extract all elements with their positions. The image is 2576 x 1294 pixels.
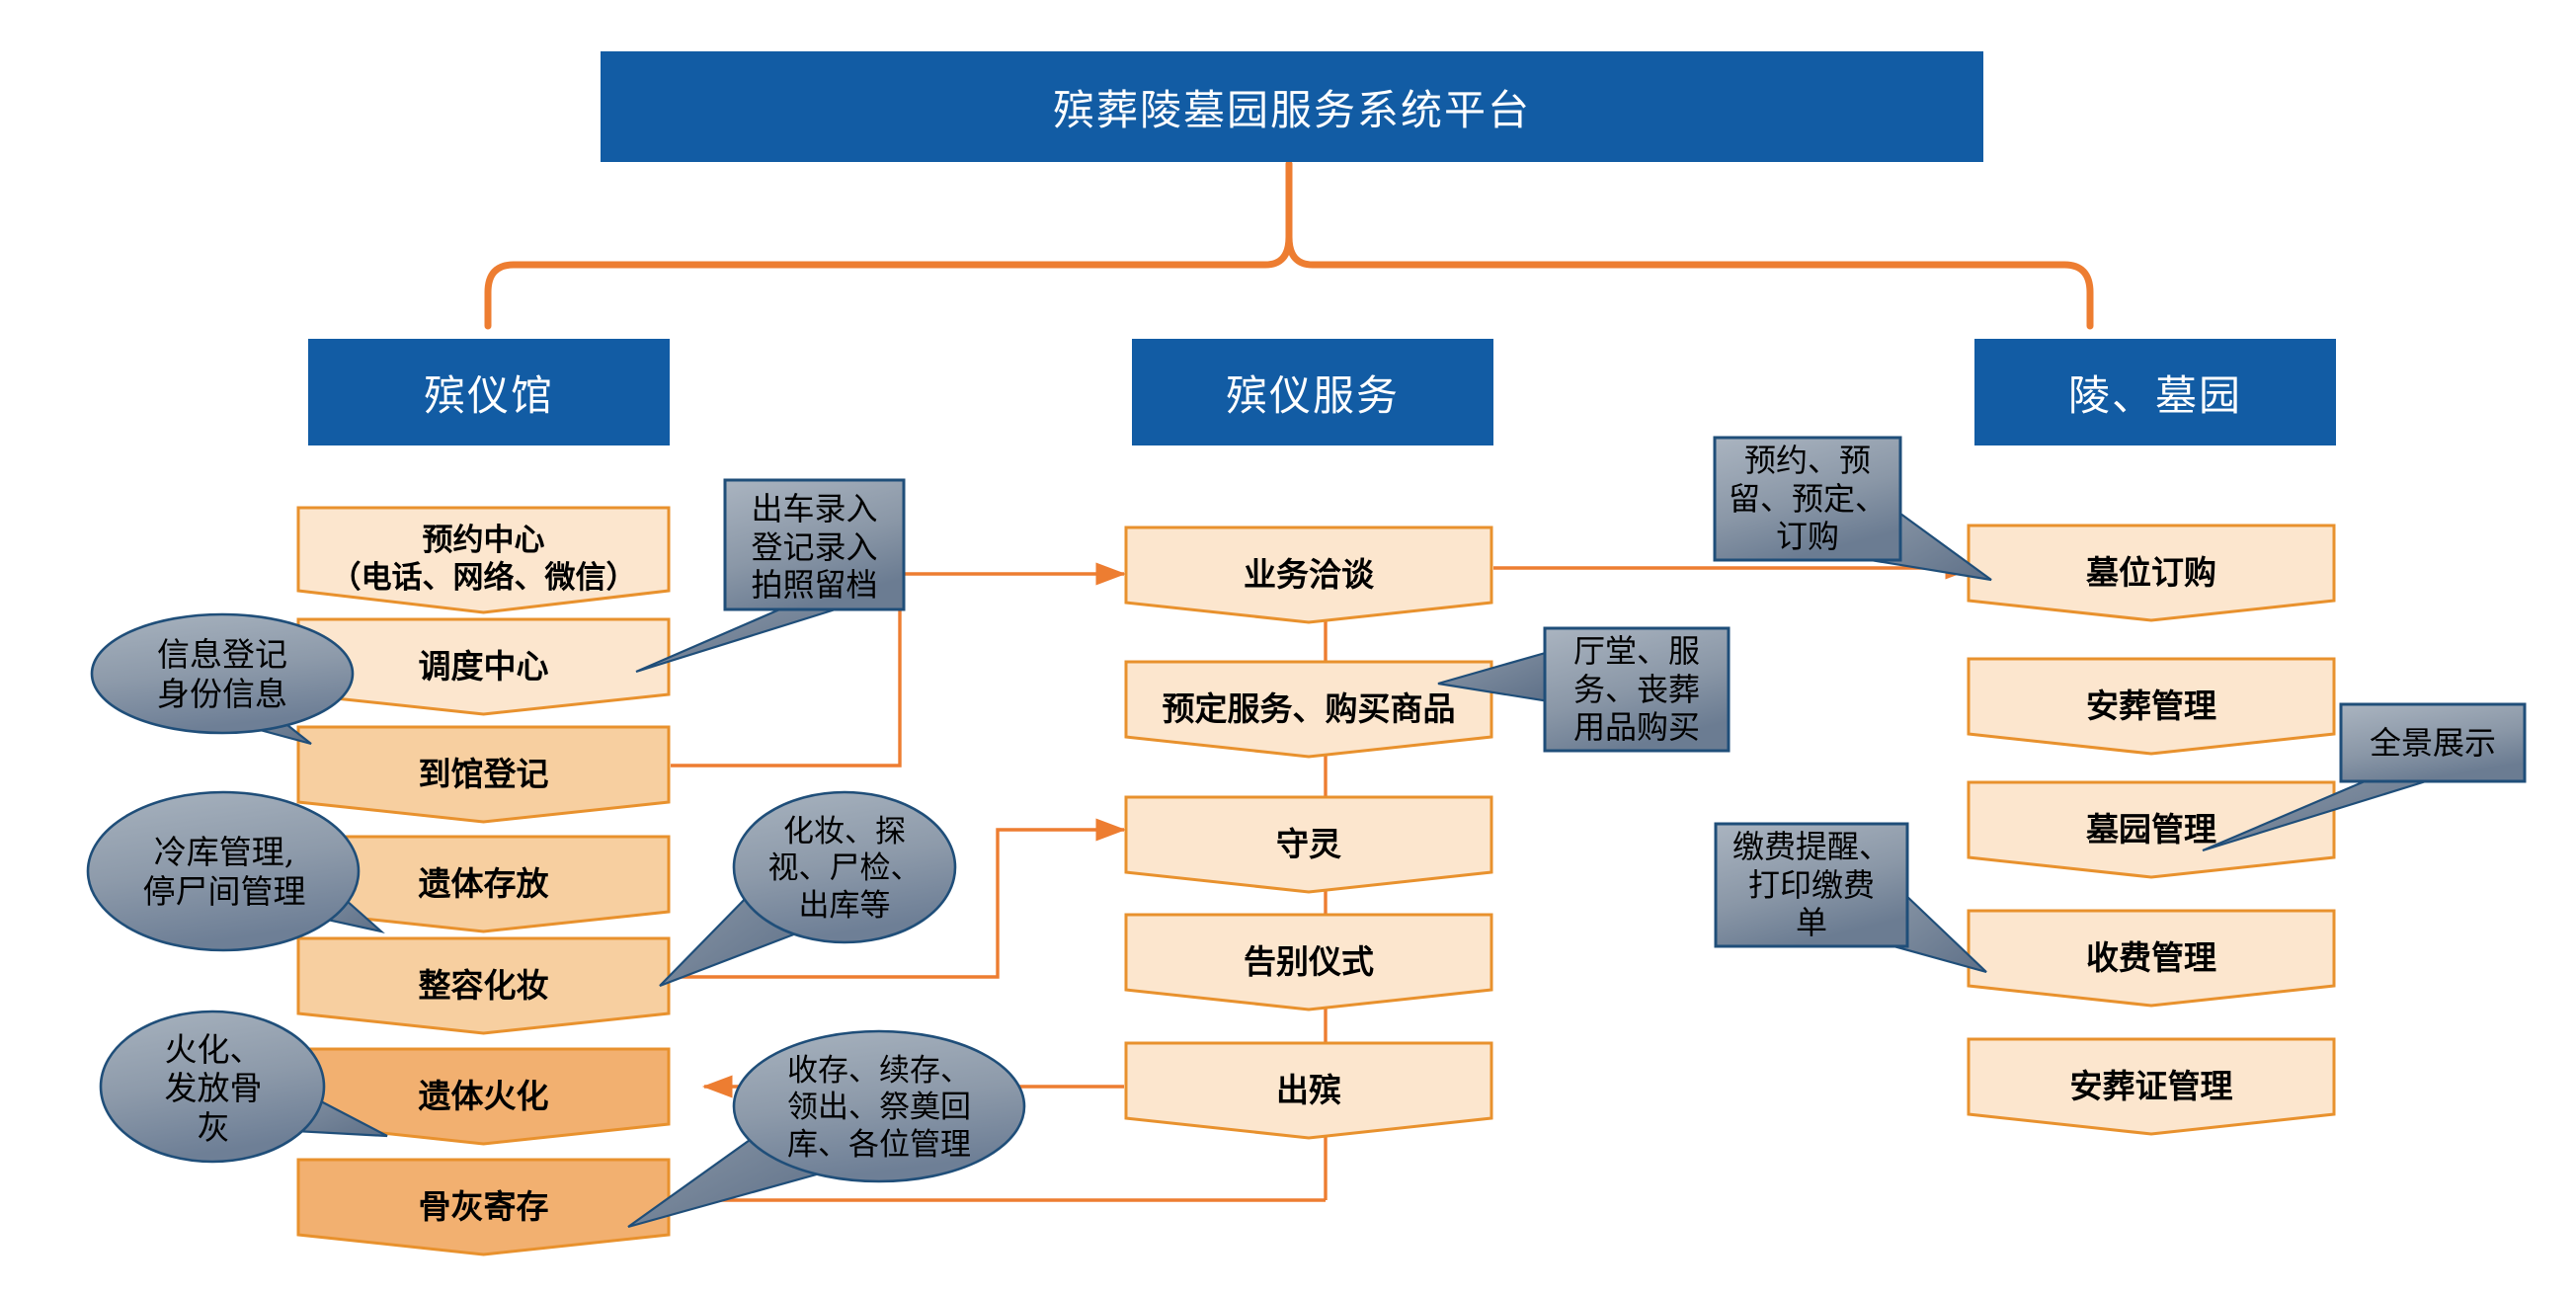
process-label: 遗体存放 [409,864,559,904]
callout-info-registration: 信息登记 身份信息 [89,612,356,736]
process-label: 出殡 [1266,1071,1351,1110]
process-label: 业务洽谈 [1234,555,1384,595]
process-box-plot-booking[interactable]: 墓位订购 [1967,524,2336,622]
process-label: 墓位订购 [2076,553,2226,593]
page-title: 殡葬陵墓园服务系统平台 [601,51,1983,162]
callout-text: 收存、续存、 领出、祭奠回 库、各位管理 [781,1053,977,1164]
column-header-funeral-service: 殡仪服务 [1132,339,1493,445]
process-box-reserve-service-purchase[interactable]: 预定服务、购买商品 [1124,660,1493,759]
callout-ash-storage-operations: 收存、续存、 领出、祭奠回 库、各位管理 [731,1029,1027,1187]
diagram-canvas: 殡葬陵墓园服务系统平台 殡仪馆 殡仪服务 陵、墓园 预约中心 （电话、网络、微信… [0,0,2576,1294]
callout-text: 缴费提醒、 打印缴费 单 [1727,828,1896,941]
process-box-business-consultation[interactable]: 业务洽谈 [1124,526,1493,624]
process-label: 整容化妆 [409,966,559,1006]
process-box-funeral-procession[interactable]: 出殡 [1124,1041,1493,1140]
process-label: 墓园管理 [2076,810,2226,849]
process-box-burial-certificate[interactable]: 安葬证管理 [1967,1037,2336,1136]
process-label: 收费管理 [2076,938,2226,978]
process-label: 守灵 [1266,825,1351,864]
callout-text: 化妆、探 视、尸检、 出库等 [763,814,927,925]
callout-cold-storage: 冷库管理, 停尸间管理 [85,790,363,953]
callout-text: 火化、 发放骨 灰 [159,1030,269,1148]
process-label: 骨灰寄存 [409,1187,559,1227]
column-header-cemetery: 陵、墓园 [1974,339,2336,445]
process-box-appointment-center[interactable]: 预约中心 （电话、网络、微信） [296,506,671,614]
callout-text: 信息登记 身份信息 [151,635,293,713]
callout-text: 冷库管理, 停尸间管理 [137,833,312,911]
callout-hall-service-goods: 厅堂、服 务、丧葬 用品购买 [1543,626,1731,753]
callout-booking-reservation: 预约、预 留、预定、 订购 [1713,436,1902,562]
callout-text: 预约、预 留、预定、 订购 [1723,442,1892,555]
column-header-funeral-home: 殡仪馆 [308,339,670,445]
process-box-farewell-ceremony[interactable]: 告别仪式 [1124,913,1493,1011]
process-label: 预定服务、购买商品 [1153,689,1466,729]
process-box-fee-management[interactable]: 收费管理 [1967,909,2336,1008]
process-box-burial-management[interactable]: 安葬管理 [1967,657,2336,756]
callout-panorama-display: 全景展示 [2339,702,2527,783]
callout-payment-reminder: 缴费提醒、 打印缴费 单 [1714,822,1909,948]
process-label: 遗体火化 [409,1077,559,1116]
process-label: 告别仪式 [1234,942,1384,982]
callout-cremation-ash-issue: 火化、 发放骨 灰 [99,1010,328,1168]
callout-dispatch-entry: 出车录入 登记录入 拍照留档 [723,478,906,616]
callout-text: 出车录入 登记录入 拍照留档 [745,490,883,604]
process-label: 到馆登记 [409,755,559,794]
process-label: 安葬证管理 [2060,1067,2243,1106]
process-label: 预约中心 （电话、网络、微信） [321,523,647,598]
top-bracket [488,164,2090,326]
process-box-ash-deposit[interactable]: 骨灰寄存 [296,1158,671,1256]
callout-makeup-inspection: 化妆、探 视、尸检、 出库等 [731,790,958,948]
process-box-cemetery-management[interactable]: 墓园管理 [1967,780,2336,879]
process-box-vigil[interactable]: 守灵 [1124,795,1493,894]
process-label: 安葬管理 [2076,687,2226,726]
callout-text: 全景展示 [2364,724,2502,762]
process-label: 调度中心 [409,647,559,687]
callout-text: 厅堂、服 务、丧葬 用品购买 [1568,632,1706,746]
